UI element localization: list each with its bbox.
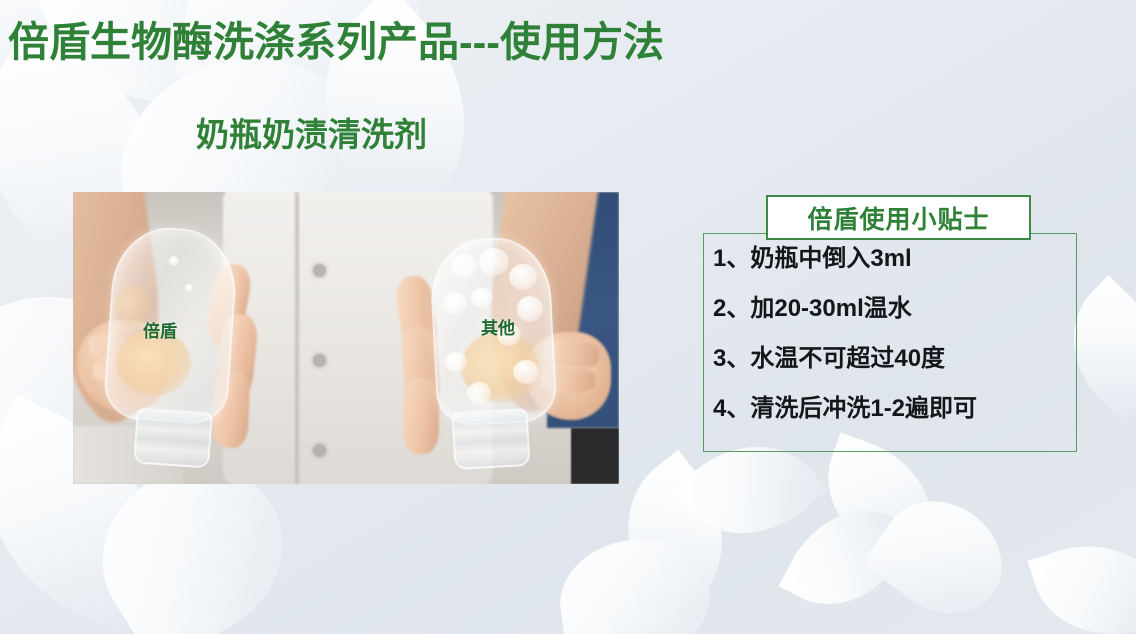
usage-tips-header-badge: 倍盾使用小贴士 [766,195,1031,240]
petal-icon [779,484,917,630]
list-item: 3、水温不可超过40度 [713,347,1073,371]
photo-foam-right [479,248,509,276]
list-item: 2、加20-30ml温水 [713,297,1073,321]
product-comparison-photo: 倍盾 其他 [73,192,619,484]
petal-icon [552,530,717,634]
product-subtitle: 奶瓶奶渍清洗剂 [196,118,427,151]
photo-dark-strip [571,428,619,484]
photo-bottle-neck-left [133,407,213,468]
photo-bottle-neck-right [452,408,531,470]
petal-icon [861,478,1024,634]
photo-foam-left [185,284,193,292]
petal-icon [807,432,954,567]
slide-canvas: 倍盾生物酶洗涤系列产品---使用方法 奶瓶奶渍清洗剂 倍盾 [0,0,1136,634]
shirt-button-icon [313,264,326,277]
photo-foam-right [471,288,493,308]
usage-tips-list: 1、奶瓶中倒入3ml 2、加20-30ml温水 3、水温不可超过40度 4、清洗… [713,247,1073,421]
list-item: 1、奶瓶中倒入3ml [713,247,1073,271]
page-title: 倍盾生物酶洗涤系列产品---使用方法 [8,22,664,63]
photo-label-right: 其他 [481,314,515,339]
petal-icon [1027,524,1136,634]
photo-label-left: 倍盾 [143,317,177,342]
shirt-button-icon [313,354,326,367]
photo-foam-right [513,360,539,384]
usage-tips-header-label: 倍盾使用小贴士 [807,200,989,236]
shirt-button-icon [313,444,326,457]
photo-foam-right [517,296,543,322]
photo-foam-right [445,352,467,372]
photo-right-finger [403,378,439,454]
photo-foam-right [467,382,491,404]
photo-foam-right [451,254,477,278]
photo-foam-left [169,256,179,266]
photo-foam-right [443,292,467,314]
photo-foam-right [509,264,537,290]
photo-shirt-seam [295,192,299,484]
list-item: 4、清洗后冲洗1-2遍即可 [713,397,1073,421]
